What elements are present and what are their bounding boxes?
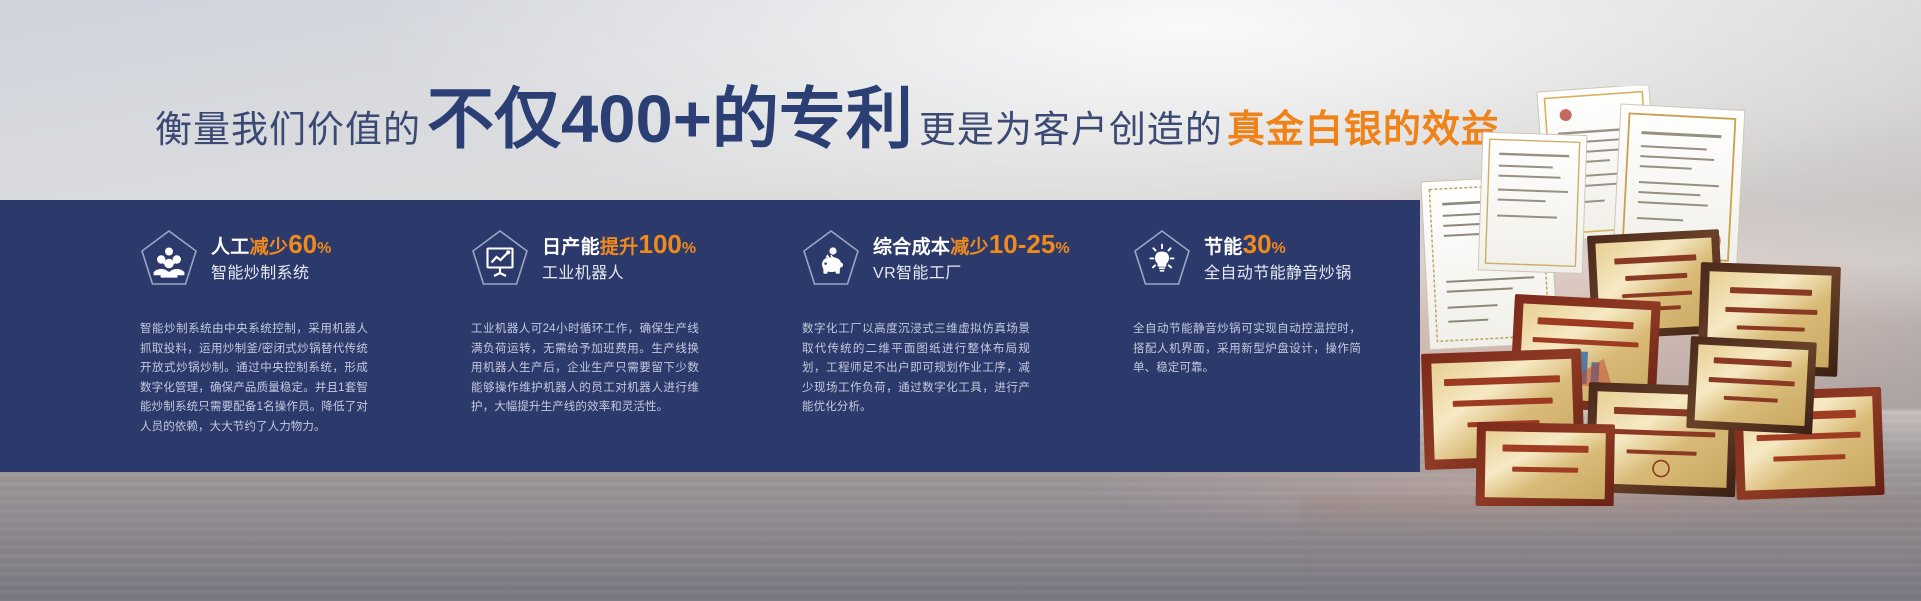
headline-emphasis: 不仅400+的专利 (427, 86, 913, 153)
feature-title-accent: 减少 (250, 237, 289, 258)
feature-title: 人工减少60% (211, 231, 332, 262)
promotional-banner: 衡量我们价值的 不仅400+的专利 更是为客户创造的 真金白银的效益 (0, 0, 1921, 601)
certificate-paper (1537, 86, 1659, 242)
feature-title: 节能30% (1204, 231, 1352, 262)
feature-title-accent: 减少 (950, 237, 989, 258)
feature-description: 智能炒制系统由中央系统控制，采用机器人抓取投料，运用炒制釜/密闭式炒锅替代传统开… (140, 320, 368, 437)
feature-description: 工业机器人可24小时循环工作，确保生产线满负荷运转，无需给予加班费用。生产线换用… (471, 320, 699, 418)
feature-item: 综合成本减少10-25% VR智能工厂 数字化工厂以高度沉浸式三维虚拟仿真场景取… (802, 200, 1073, 472)
feature-item: 人工减少60% 智能炒制系统 智能炒制系统由中央系统控制，采用机器人抓取投料，运… (140, 200, 411, 472)
feature-item: 节能30% 全自动节能静音炒锅 全自动节能静音炒锅可实现自动控温控时，搭配人机界… (1133, 200, 1404, 472)
feature-title: 综合成本减少10-25% (873, 231, 1070, 262)
people-group-icon (140, 229, 198, 289)
feature-subtitle: 全自动节能静音炒锅 (1204, 262, 1352, 286)
features-list: 人工减少60% 智能炒制系统 智能炒制系统由中央系统控制，采用机器人抓取投料，运… (140, 200, 1412, 472)
headline-prefix: 衡量我们价值的 (155, 99, 421, 153)
feature-title-prefix: 人工 (211, 237, 250, 258)
feature-title-unit: % (1272, 240, 1287, 257)
features-panel: 人工减少60% 智能炒制系统 智能炒制系统由中央系统控制，采用机器人抓取投料，运… (0, 200, 1420, 472)
feature-titles: 综合成本减少10-25% VR智能工厂 (873, 231, 1070, 288)
feature-header: 日产能提升100% 工业机器人 (471, 222, 742, 296)
certificate-plaque (1587, 229, 1724, 340)
certificate-paper (1421, 175, 1558, 349)
feature-title-unit: % (317, 240, 332, 257)
headline-middle: 更是为客户创造的 (919, 99, 1223, 153)
feature-title-prefix: 综合成本 (873, 237, 950, 258)
feature-subtitle: 工业机器人 (542, 262, 696, 286)
feature-subtitle: 智能炒制系统 (211, 262, 332, 286)
feature-header: 节能30% 全自动节能静音炒锅 (1133, 222, 1404, 296)
feature-item: 日产能提升100% 工业机器人 工业机器人可24小时循环工作，确保生产线满负荷运… (471, 200, 742, 472)
headline: 衡量我们价值的 不仅400+的专利 更是为客户创造的 真金白银的效益 (155, 86, 1500, 156)
certificate-paper (1613, 104, 1745, 270)
lightbulb-icon (1133, 229, 1191, 289)
feature-header: 人工减少60% 智能炒制系统 (140, 222, 411, 296)
feature-title-value: 30 (1243, 229, 1272, 259)
feature-title-unit: % (1055, 240, 1070, 257)
certificate-plaque (1509, 294, 1661, 413)
headline-highlight: 真金白银的效益 (1227, 98, 1500, 153)
feature-title-value: 100 (639, 229, 682, 259)
certificate-plaque (1697, 262, 1841, 377)
feature-title-prefix: 节能 (1204, 237, 1243, 258)
feature-header: 综合成本减少10-25% VR智能工厂 (802, 222, 1073, 296)
feature-title-prefix: 日产能 (542, 237, 600, 258)
feature-subtitle: VR智能工厂 (873, 262, 1070, 286)
feature-title-unit: % (682, 240, 697, 257)
chart-board-icon (471, 229, 529, 289)
feature-titles: 日产能提升100% 工业机器人 (542, 231, 696, 288)
feature-titles: 节能30% 全自动节能静音炒锅 (1204, 231, 1352, 288)
feature-title-accent: 提升 (600, 237, 639, 258)
feature-description: 全自动节能静音炒锅可实现自动控温控时，搭配人机界面，采用新型炉盘设计，操作简单、… (1133, 320, 1361, 379)
feature-description: 数字化工厂以高度沉浸式三维虚拟仿真场景取代传统的二维平面图纸进行整体布局规划，工… (802, 320, 1030, 418)
feature-title-value: 60 (288, 229, 317, 259)
feature-title-value: 10-25 (989, 229, 1056, 259)
piggy-bank-icon (802, 229, 860, 289)
feature-titles: 人工减少60% 智能炒制系统 (211, 231, 332, 288)
feature-title: 日产能提升100% (542, 231, 696, 262)
